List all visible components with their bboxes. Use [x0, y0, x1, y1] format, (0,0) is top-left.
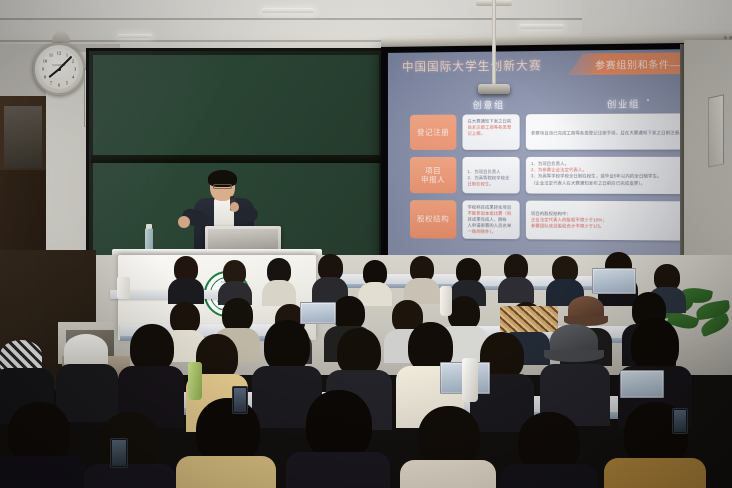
slide-column-marker [647, 99, 649, 101]
row-label-equity: 股权结构 [410, 200, 456, 239]
audience-member [0, 402, 86, 488]
audience-member [168, 256, 204, 302]
audience-member [84, 412, 176, 488]
head [631, 318, 679, 372]
white-cap [64, 334, 108, 366]
row-label-registration: 登记注册 [410, 115, 456, 151]
head [518, 412, 580, 472]
clock-center-pin [58, 68, 61, 71]
table-row: 股权结构 学校科技成果转化项目 不能参加本组比赛（科 技成果完成人、拥有 人申请… [410, 200, 724, 241]
slide-comparison-table: 登记注册 在大赛通知下发之日前 尚未注册工商等各类登 记上报。 参赛项目须已完成… [410, 113, 724, 241]
door-window [4, 106, 42, 168]
head [337, 328, 381, 376]
audience-member [312, 254, 348, 302]
ceiling-light [118, 34, 152, 38]
presenter-right-hand [230, 202, 239, 212]
laptop-screen [594, 270, 634, 292]
torso [168, 278, 204, 304]
cell-line: 一致的除外）。 [468, 229, 515, 236]
projector-icon [478, 84, 510, 94]
audience-member [118, 324, 184, 420]
blackboard-upper-panel [93, 55, 379, 155]
table-row: 登记注册 在大赛通知下发之日前 尚未注册工商等各类登 记上报。 参赛项目须已完成… [410, 113, 724, 150]
clock-numeral: 7 [50, 80, 52, 85]
laptop[interactable] [620, 370, 664, 398]
audience-member [604, 402, 706, 488]
clock-numeral: 12 [57, 51, 61, 56]
cap-brim [544, 350, 604, 362]
wall-speaker-right [708, 94, 724, 167]
presenter-left-hand [178, 216, 190, 228]
monitor-screen [208, 229, 278, 251]
desk [330, 274, 460, 284]
patterned-cap [0, 340, 42, 370]
water-bottle [462, 358, 478, 402]
torso [400, 460, 496, 488]
row-1-idea-cell: 1．为项目负责人 2．为高等院校学校全 日制在校生。 [462, 157, 519, 193]
head [196, 398, 260, 464]
slide-column-header-idea: 创意组 [473, 98, 505, 111]
projector-pole [492, 0, 496, 88]
torso [84, 464, 176, 488]
head [100, 412, 160, 472]
laptop [592, 268, 636, 294]
clock-numeral: 5 [66, 80, 68, 85]
clock-numeral: 4 [72, 74, 74, 79]
cell-line: 学校科技成果转化项目 [468, 204, 515, 210]
torso [500, 464, 598, 488]
smartphone[interactable] [672, 408, 688, 434]
audience-member [498, 254, 534, 302]
cell-line: 不能参加本组比赛（科 [468, 210, 515, 216]
head [130, 324, 174, 372]
head [222, 298, 253, 332]
smartphone[interactable] [232, 386, 248, 414]
blackboard-rail [91, 155, 381, 163]
table-row: 项目 申报人 1．为项目负责人 2．为高等院校学校全 日制在校生。 1．为项目负… [410, 157, 724, 194]
clock-numeral: 6 [58, 82, 60, 87]
torso [176, 456, 276, 488]
head [306, 390, 372, 460]
glasses-icon [213, 184, 232, 189]
clock-numeral: 8 [44, 74, 46, 79]
clock-numeral: 9 [42, 67, 44, 72]
torso [262, 280, 296, 306]
water-bottle [440, 286, 452, 316]
row-0-idea-cell: 在大赛通知下发之日前 尚未注册工商等各类登 记上报。 [462, 114, 519, 150]
row-label-applicant: 项目 申报人 [410, 157, 456, 193]
audience-member [262, 258, 296, 304]
phone-screen [234, 388, 246, 412]
head [8, 402, 70, 464]
audience-member [286, 390, 390, 488]
torso [0, 456, 86, 488]
clock-face: QUARTZ 12 1 2 3 4 5 6 7 8 9 10 11 [39, 49, 79, 89]
clock-numeral: 10 [43, 59, 47, 64]
cell-line: 日制在校生。 [468, 182, 515, 188]
paper-cup [117, 277, 130, 299]
phone-screen [674, 410, 686, 432]
torso [604, 458, 706, 488]
row-2-idea-cell: 学校科技成果转化项目 不能参加本组比赛（科 技成果完成人、拥有 人申请参赛的人员… [462, 200, 519, 239]
wall-clock: QUARTZ 12 1 2 3 4 5 6 7 8 9 10 11 [33, 43, 85, 95]
ceiling-light [520, 24, 564, 29]
slide-title: 中国国际大学生创新大赛 [402, 57, 542, 75]
slide-column-header-venture: 创业组 [607, 97, 640, 111]
head [264, 320, 310, 372]
head [333, 296, 365, 330]
cell-line: 1．为项目负责人 [468, 161, 515, 175]
clock-numeral: 11 [49, 53, 53, 58]
torso [498, 277, 534, 303]
audience-member [540, 324, 610, 424]
audience-member [500, 412, 598, 488]
screen-indicator-led [724, 36, 727, 39]
cell-line: 记上报。 [468, 131, 515, 137]
clock-numeral: 2 [72, 59, 74, 64]
ceiling-light [262, 8, 314, 13]
lecture-hall-photo: QUARTZ 12 1 2 3 4 5 6 7 8 9 10 11 中国国际大学… [0, 0, 732, 488]
audience-member [404, 256, 440, 302]
audience-member [176, 398, 276, 488]
clock-numeral: 3 [74, 67, 76, 72]
head [418, 406, 480, 468]
phone-screen [112, 440, 126, 466]
torso [286, 452, 390, 488]
audience-member [400, 406, 496, 488]
smartphone[interactable] [110, 438, 128, 468]
laptop-screen [622, 372, 662, 396]
audience [0, 262, 732, 488]
water-bottle [188, 362, 202, 400]
